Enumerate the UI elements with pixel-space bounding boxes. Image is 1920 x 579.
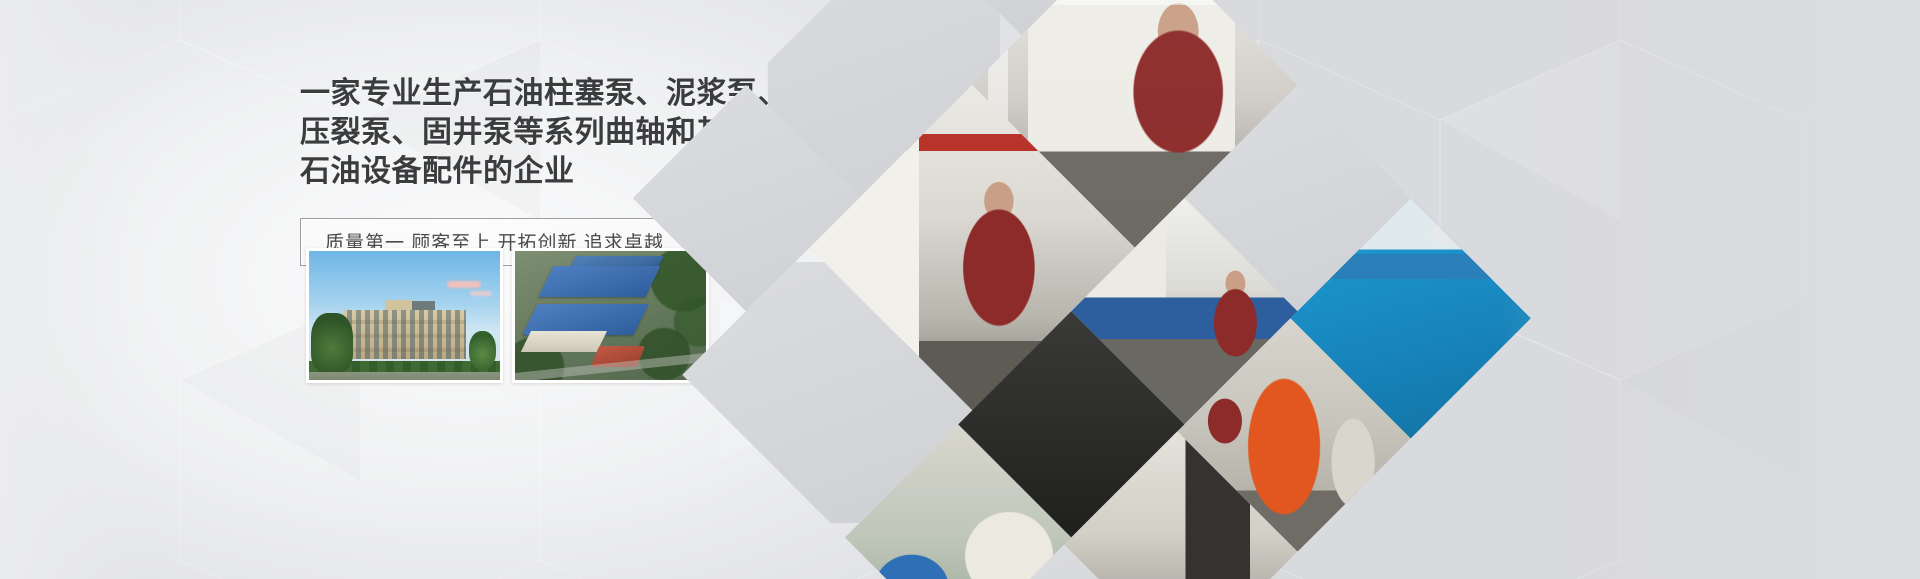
hero-banner: 一家专业生产石油柱塞泵、泥浆泵、 压裂泵、固井泵等系列曲轴和其他 石油设备配件的… xyxy=(0,0,1920,579)
office-building-photo xyxy=(306,248,503,383)
left-edge-fade xyxy=(0,0,150,579)
diamond-photo-collage xyxy=(690,0,1410,579)
right-edge-fade xyxy=(1500,0,1920,579)
headline-line-1: 一家专业生产石油柱塞泵、泥浆泵、 xyxy=(300,74,720,113)
headline-line-2: 压裂泵、固井泵等系列曲轴和其他 xyxy=(300,113,720,152)
